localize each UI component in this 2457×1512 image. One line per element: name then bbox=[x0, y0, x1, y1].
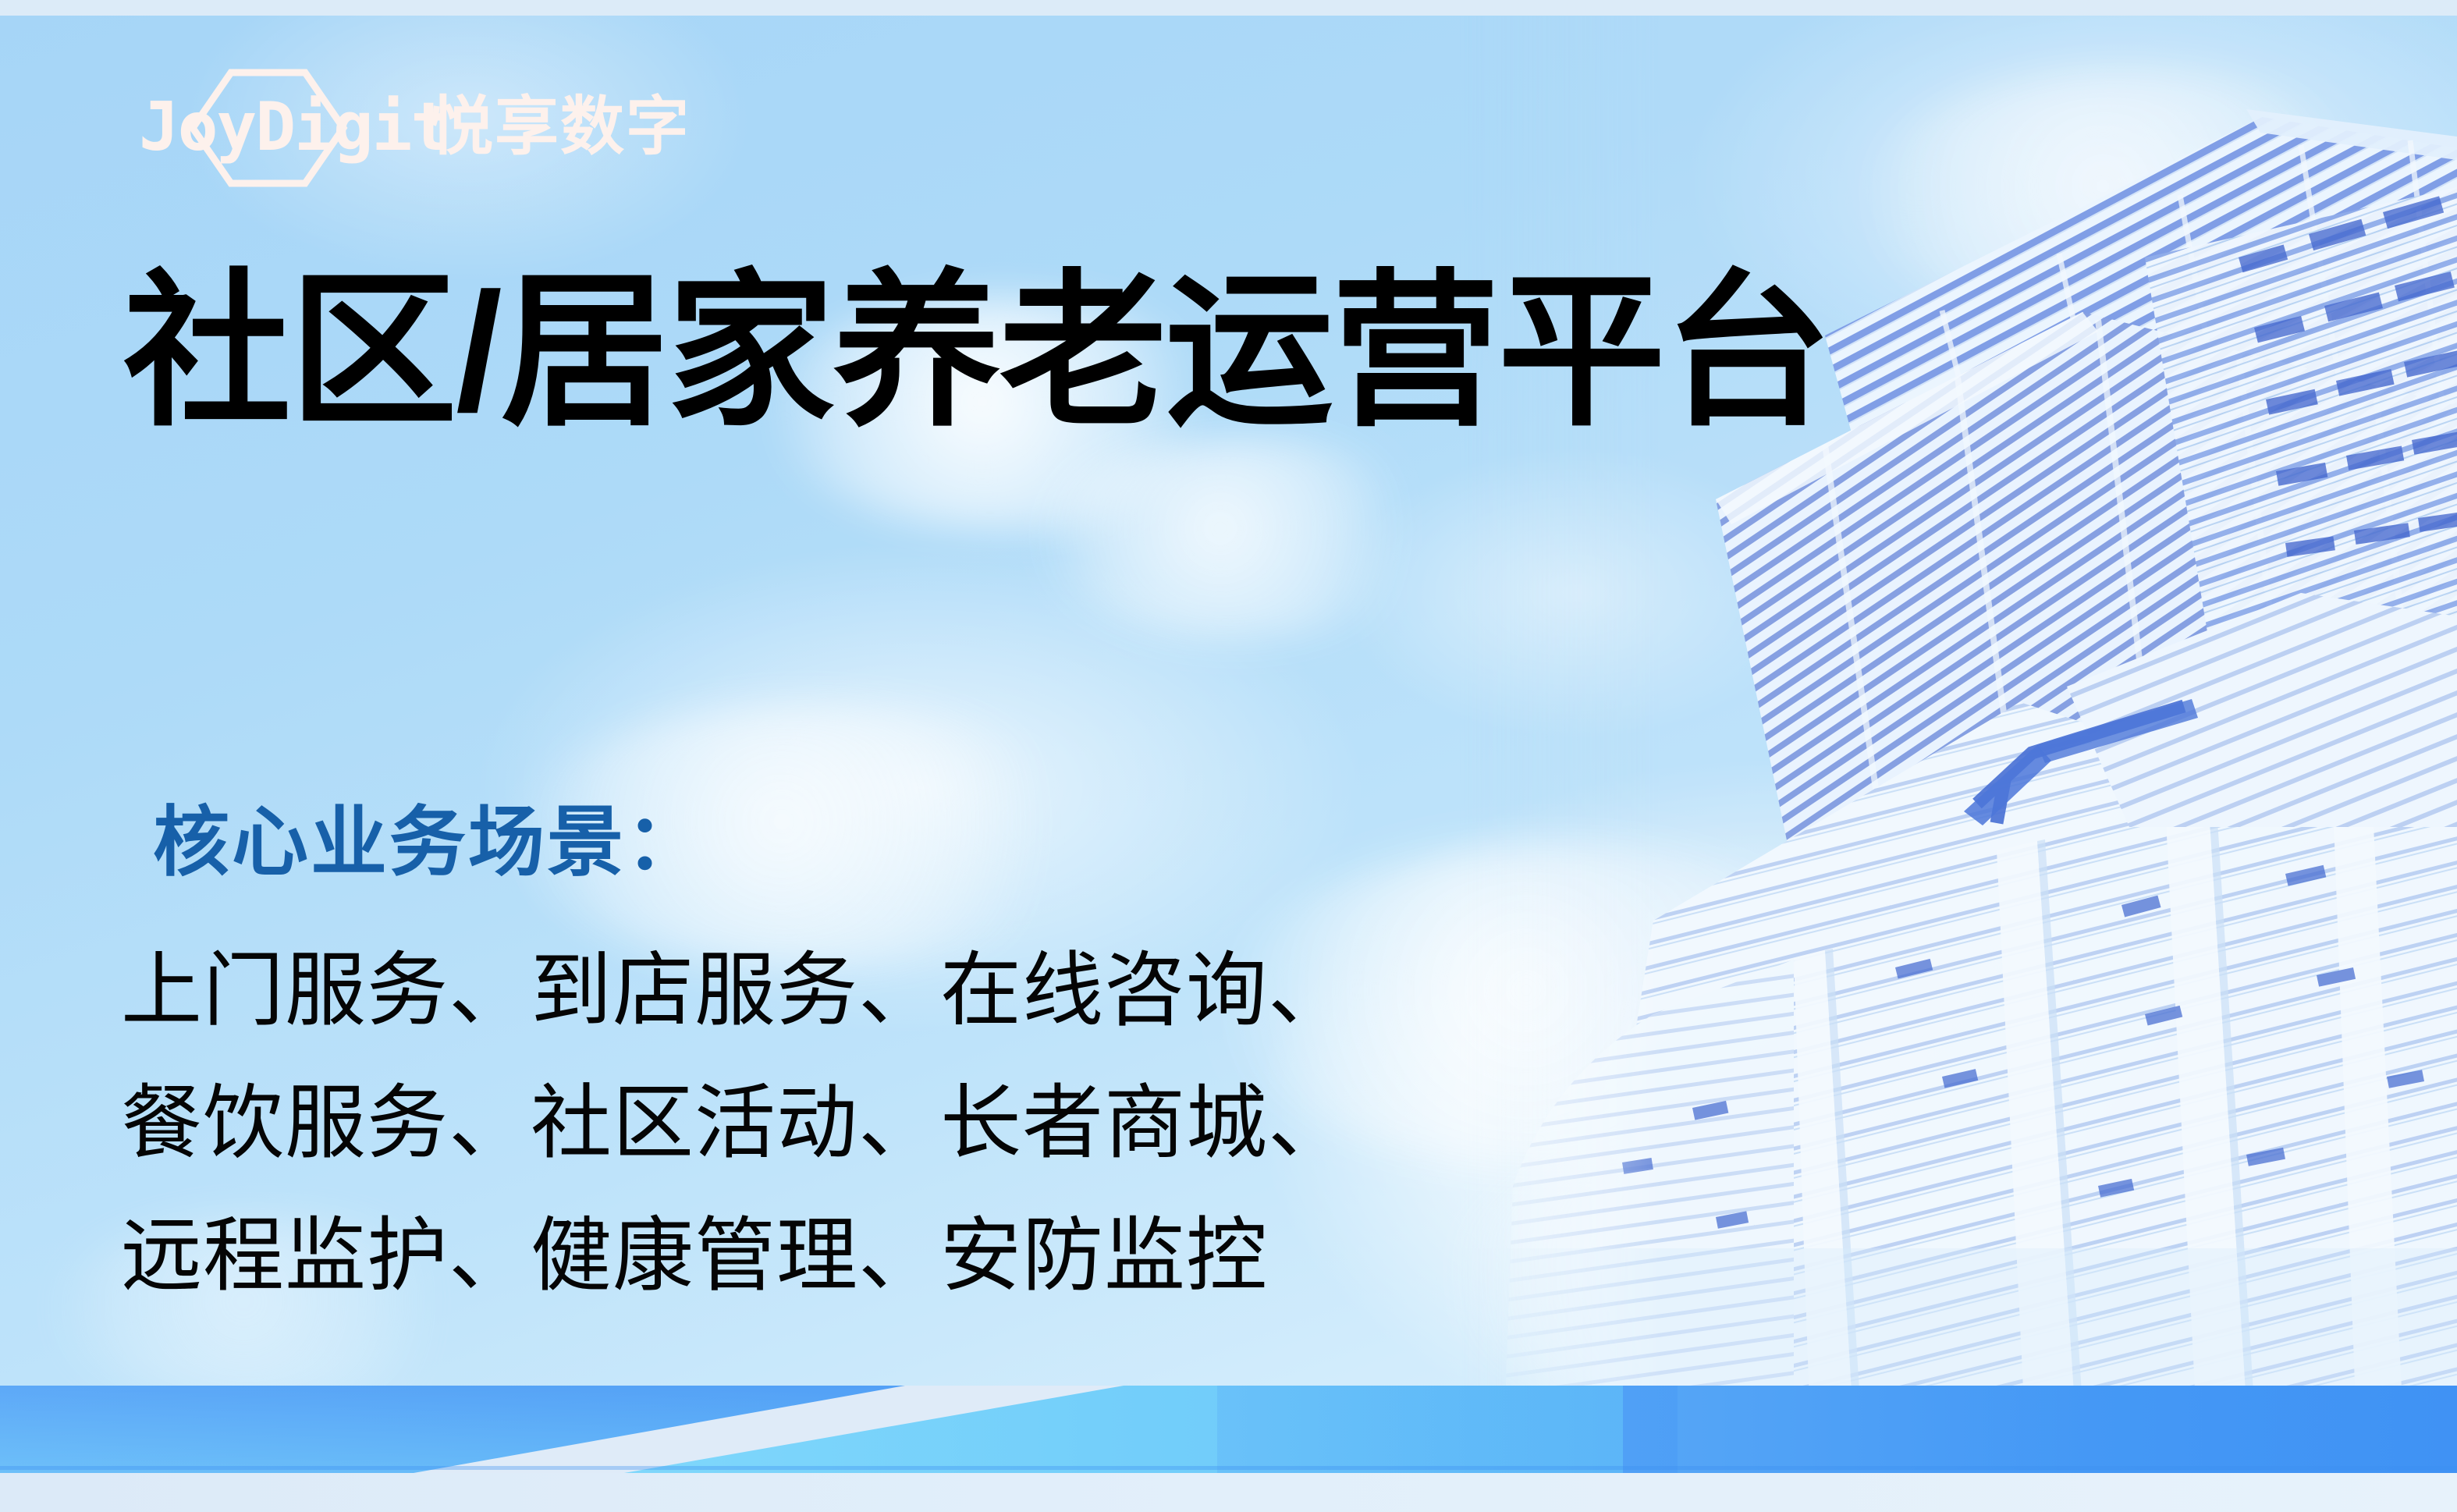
footer-strip bbox=[0, 1469, 2457, 1512]
page-title: 社区/居家养老运营平台 bbox=[123, 264, 1830, 440]
logo-wordmark-cn: 悦享数字 bbox=[429, 91, 685, 162]
top-edge-strip bbox=[0, 0, 2457, 16]
scenario-list: 上门服务、到店服务、在线咨询、 餐饮服务、社区活动、长者商城、 远程监护、健康管… bbox=[121, 925, 1350, 1322]
scenario-line: 远程监护、健康管理、安防监控 bbox=[121, 1190, 1350, 1322]
scenario-line: 餐饮服务、社区活动、长者商城、 bbox=[121, 1057, 1350, 1190]
section-heading: 核心业务场景： bbox=[153, 780, 705, 891]
logo-wordmark-latin: JoyDigit bbox=[139, 88, 449, 166]
bottom-decoration-bar bbox=[0, 1356, 2457, 1512]
bar-shape-right bbox=[1623, 1386, 2457, 1473]
brand-logo: JoyDigit 悦享数字 bbox=[139, 62, 685, 195]
skyscraper-photo bbox=[1458, 0, 2457, 1404]
scenario-line: 上门服务、到店服务、在线咨询、 bbox=[121, 925, 1350, 1057]
slide-canvas: JoyDigit 悦享数字 社区/居家养老运营平台 核心业务场景： 上门服务、到… bbox=[0, 0, 2457, 1512]
